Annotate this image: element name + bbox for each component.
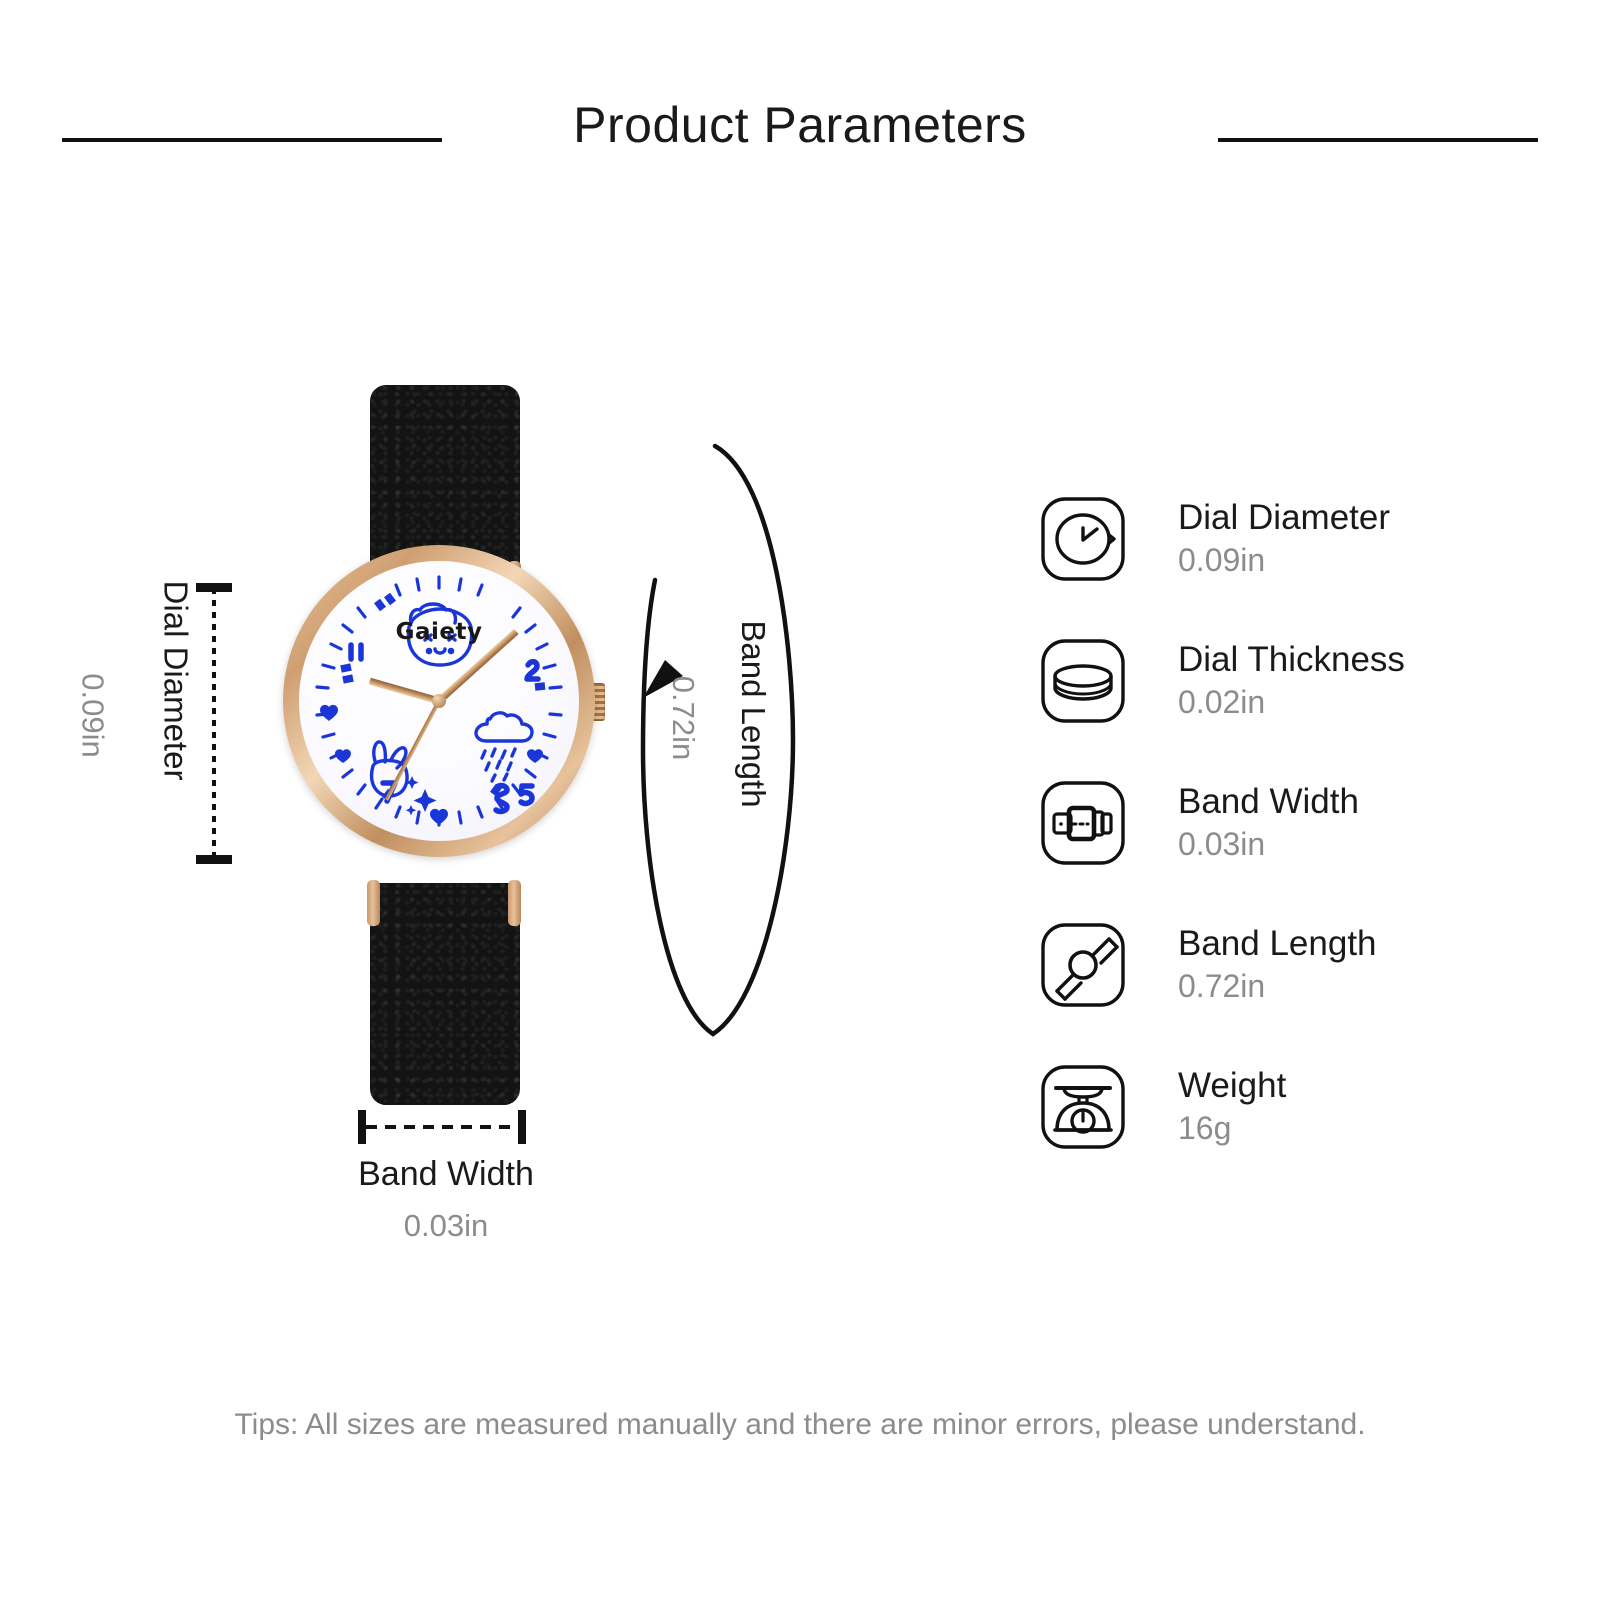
band-width-cap-left xyxy=(358,1110,366,1144)
spec-label: Dial Thickness xyxy=(1178,639,1405,682)
spec-row-dial-thickness: Dial Thickness 0.02in xyxy=(1040,610,1560,752)
disc-thickness-icon xyxy=(1040,638,1126,724)
dial-diameter-cap-top xyxy=(196,583,232,592)
watch-hands-pin xyxy=(432,694,446,708)
kitchen-scale-icon xyxy=(1040,1064,1126,1150)
dial-diameter-value: 0.09in xyxy=(78,651,109,781)
watch-dial: Gaiety xyxy=(299,561,579,841)
spec-value: 0.03in xyxy=(1178,824,1359,866)
page-title: Product Parameters xyxy=(0,96,1600,154)
spec-label: Band Width xyxy=(1178,781,1359,824)
dial-diameter-dimension-line xyxy=(212,588,216,860)
dial-diameter-label: Dial Diameter xyxy=(160,581,193,781)
spec-label: Weight xyxy=(1178,1065,1286,1108)
spec-value: 0.72in xyxy=(1178,966,1377,1008)
footer-tip-text: Tips: All sizes are measured manually an… xyxy=(0,1408,1600,1442)
band-length-loop-arrow xyxy=(625,430,805,1050)
band-width-value: 0.03in xyxy=(286,1208,606,1244)
watch-lug-bottom-right xyxy=(508,880,521,926)
spec-value: 16g xyxy=(1178,1108,1286,1150)
band-width-cap-right xyxy=(518,1110,526,1144)
header-rule-right xyxy=(1218,138,1538,142)
spec-label: Band Length xyxy=(1178,923,1377,966)
spec-row-band-length: Band Length 0.72in xyxy=(1040,894,1560,1036)
watch-dial-icon xyxy=(1040,496,1126,582)
watch-case: Gaiety xyxy=(283,545,595,857)
specification-list: Dial Diameter 0.09in Dial Thickness 0.02… xyxy=(1040,468,1560,1178)
band-width-label: Band Width xyxy=(286,1155,606,1194)
band-length-label: Band Length xyxy=(734,604,772,824)
spec-value: 0.02in xyxy=(1178,682,1405,724)
spec-row-dial-diameter: Dial Diameter 0.09in xyxy=(1040,468,1560,610)
dial-brand-name: Gaiety xyxy=(299,619,579,645)
band-width-dimension-line xyxy=(366,1125,526,1129)
strap-length-icon xyxy=(1040,922,1126,1008)
watch-product-image: Gaiety xyxy=(283,385,603,1110)
watch-band-icon xyxy=(1040,780,1126,866)
page-header: Product Parameters xyxy=(0,96,1600,186)
spec-value: 0.09in xyxy=(1178,540,1390,582)
band-length-value: 0.72in xyxy=(665,638,701,798)
watch-lug-bottom-left xyxy=(367,880,380,926)
watch-strap-lower xyxy=(370,883,520,1105)
spec-row-band-width: Band Width 0.03in xyxy=(1040,752,1560,894)
spec-row-weight: Weight 16g xyxy=(1040,1036,1560,1178)
spec-label: Dial Diameter xyxy=(1178,497,1390,540)
dial-diameter-cap-bottom xyxy=(196,855,232,864)
